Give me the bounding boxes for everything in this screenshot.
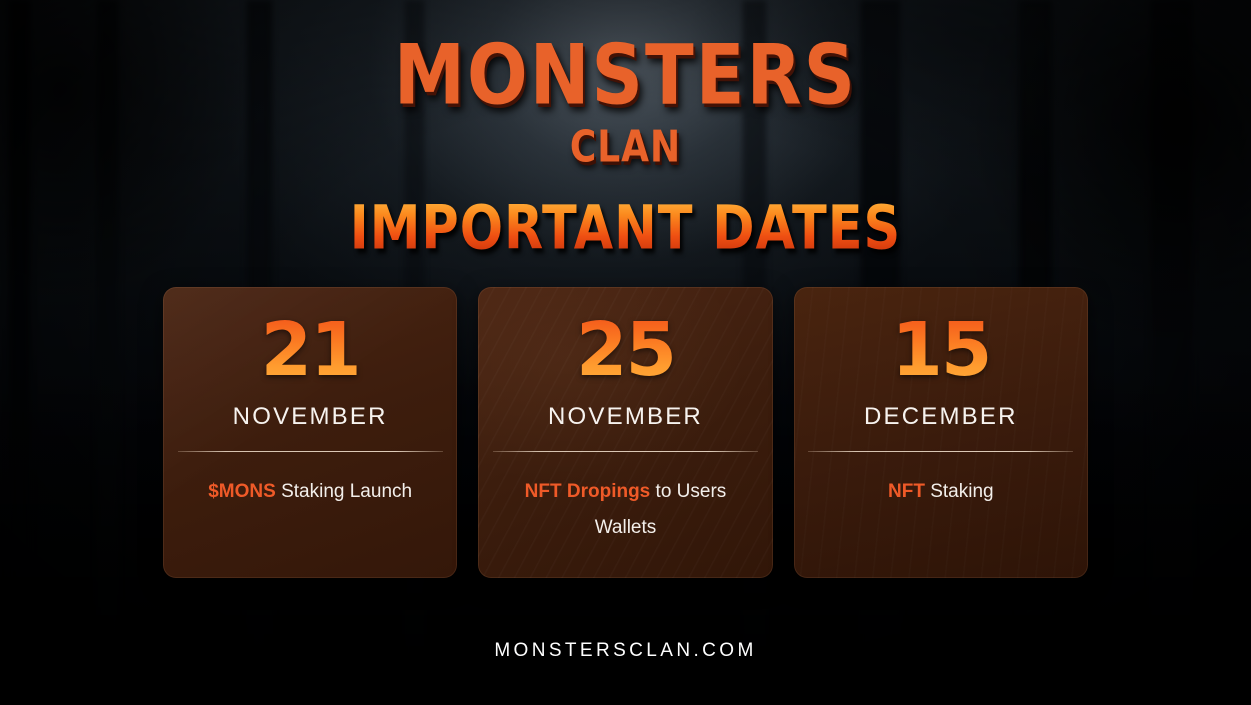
card-description-highlight: NFT Dropings [525,481,651,502]
date-card: 15 DECEMBER NFT Staking [794,287,1088,578]
card-description: NFT Dropings to Users Wallets [498,474,753,546]
poster-content: MONSTERS CLAN IMPORTANT DATES 21 NOVEMBE… [0,0,1251,705]
card-description-rest: Staking Launch [276,481,412,502]
card-description: NFT Staking [813,474,1068,510]
footer-website-url: MONSTERSCLAN.COM [0,640,1251,662]
card-divider [808,451,1073,452]
date-card-list: 21 NOVEMBER $MONS Staking Launch 25 NOVE… [163,287,1088,578]
card-month-label: NOVEMBER [233,403,388,431]
card-description-rest: Staking [925,481,994,502]
card-month-label: NOVEMBER [548,403,703,431]
brand-logo: MONSTERS CLAN [0,40,1251,166]
promo-poster: MONSTERS CLAN IMPORTANT DATES 21 NOVEMBE… [0,0,1251,705]
logo-wordmark-monsters: MONSTERS [0,34,1251,117]
card-day-number: 25 [576,313,675,387]
date-card: 21 NOVEMBER $MONS Staking Launch [163,287,457,578]
card-day-number: 21 [261,313,360,387]
card-divider [178,451,443,452]
date-card: 25 NOVEMBER NFT Dropings to Users Wallet… [478,287,772,578]
card-description-highlight: NFT [888,481,925,502]
logo-wordmark-clan: CLAN [0,126,1251,170]
page-title: IMPORTANT DATES [13,199,1239,259]
card-description-highlight: $MONS [208,481,276,502]
card-description: $MONS Staking Launch [183,474,438,510]
card-month-label: DECEMBER [864,403,1018,431]
card-divider [493,451,758,452]
card-day-number: 15 [891,313,990,387]
